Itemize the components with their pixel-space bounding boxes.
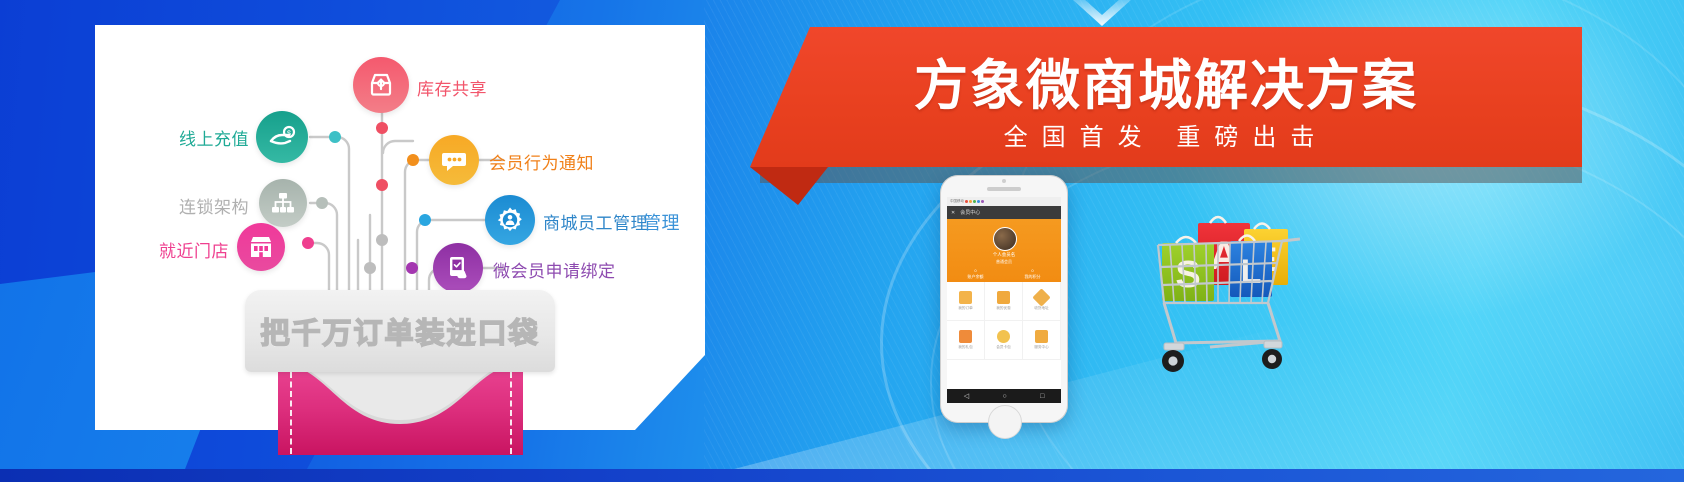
order-icon bbox=[959, 291, 972, 304]
svg-text:L: L bbox=[1241, 253, 1262, 291]
status-dot-icon bbox=[981, 200, 984, 203]
phone-menu-item[interactable]: 我的礼包 bbox=[947, 321, 985, 360]
feature-label-mendian: 就近门店 bbox=[71, 237, 229, 262]
battery-icon bbox=[973, 200, 976, 203]
phone-profile-header: 个人会员名 普通会员 0 账户余额 0 我的积分 bbox=[947, 219, 1061, 282]
ribbon-shadow bbox=[760, 167, 1582, 183]
org-chart-icon bbox=[269, 189, 297, 217]
bottom-strip bbox=[0, 469, 1684, 482]
pocket-stitch bbox=[290, 372, 292, 454]
headline-ribbon: 方象微商城解决方案 全国首发 重磅出击 bbox=[750, 27, 1582, 167]
feature-icon-liansuo[interactable] bbox=[259, 179, 307, 227]
connector-dot bbox=[376, 179, 388, 191]
connector-dot bbox=[316, 197, 328, 209]
phone-menu-item[interactable]: 服务中心 bbox=[1023, 321, 1061, 360]
svg-text:S: S bbox=[1175, 254, 1200, 296]
feature-icon-bangding[interactable] bbox=[433, 243, 483, 293]
feature-icon-chongzhi[interactable]: $ bbox=[256, 111, 308, 163]
card-icon bbox=[997, 330, 1010, 343]
phone-camera-icon bbox=[1002, 179, 1006, 183]
close-icon[interactable]: ✕ bbox=[951, 210, 955, 216]
feature-icon-mendian[interactable] bbox=[237, 223, 285, 271]
headline-title: 方象微商城解决方案 bbox=[750, 41, 1582, 120]
phone-mockup: 中国移动 ✕ 会员中心 个人会员名 普通会员 0 账户余额 bbox=[940, 175, 1068, 423]
feature-icon-tongzhi[interactable] bbox=[429, 135, 479, 185]
phone-menu-item[interactable]: 我的优惠 bbox=[985, 282, 1023, 321]
pocket-caption: 把千万订单装进口袋 bbox=[245, 310, 555, 352]
phone-stat: 0 账户余额 bbox=[947, 268, 1004, 280]
recents-icon[interactable]: □ bbox=[1040, 393, 1044, 400]
feature-label-chongzhi: 线上充值 bbox=[91, 125, 249, 150]
feature-label-bangding: 微会员申请绑定 bbox=[493, 257, 616, 282]
service-icon bbox=[1035, 330, 1048, 343]
phone-stat: 0 我的积分 bbox=[1004, 268, 1061, 280]
avatar bbox=[993, 227, 1017, 251]
back-icon[interactable]: ◁ bbox=[964, 392, 969, 400]
gear-user-icon bbox=[495, 205, 525, 235]
inbox-upload-icon bbox=[366, 70, 396, 100]
pocket-stitch bbox=[510, 372, 512, 454]
connector-dot bbox=[407, 154, 419, 166]
hand-coin-icon: $ bbox=[267, 122, 297, 152]
feature-label-guanli-extra: 管理 bbox=[643, 209, 680, 235]
connector-dot bbox=[376, 234, 388, 246]
feature-icon-yuangong[interactable] bbox=[485, 195, 535, 245]
phone-nav-bar: ◁ ○ □ bbox=[947, 389, 1061, 403]
wifi-icon bbox=[969, 200, 972, 203]
phone-app-title: 会员中心 bbox=[960, 209, 980, 216]
pocket-curve bbox=[278, 362, 523, 442]
phone-status-bar: 中国移动 bbox=[947, 197, 1061, 206]
phone-profile-level: 普通会员 bbox=[947, 259, 1061, 265]
promo-banner: 库存共享 $ 线上充值 会员行为通知 bbox=[0, 0, 1684, 482]
phone-app-bar: ✕ 会员中心 bbox=[947, 206, 1061, 219]
cart-wheel bbox=[1262, 341, 1282, 369]
feature-label-yuangong: 商城员工管理 bbox=[543, 209, 648, 234]
connector-dot bbox=[329, 131, 341, 143]
signal-icon bbox=[965, 200, 968, 203]
phone-profile-stats: 0 账户余额 0 我的积分 bbox=[947, 268, 1061, 280]
feature-label-kucun: 库存共享 bbox=[417, 75, 487, 100]
coupon-icon bbox=[997, 291, 1010, 304]
tablet-check-icon bbox=[444, 254, 472, 282]
connector-dot bbox=[302, 237, 314, 249]
gift-icon bbox=[959, 330, 972, 343]
phone-profile-name: 个人会员名 bbox=[947, 252, 1061, 258]
connector-dot bbox=[406, 262, 418, 274]
home-button[interactable] bbox=[988, 405, 1022, 439]
phone-menu-item[interactable]: 收货地址 bbox=[1023, 282, 1061, 321]
phone-menu-item[interactable]: 会员卡包 bbox=[985, 321, 1023, 360]
phone-menu-item[interactable]: 我的订单 bbox=[947, 282, 985, 321]
feature-icon-kucun[interactable] bbox=[353, 57, 409, 113]
home-icon[interactable]: ○ bbox=[1002, 393, 1006, 400]
connector-dot bbox=[376, 122, 388, 134]
headline-subtitle: 全国首发 重磅出击 bbox=[750, 117, 1582, 152]
chat-bubble-icon bbox=[440, 146, 468, 174]
feature-diagram: 库存共享 $ 线上充值 会员行为通知 bbox=[95, 25, 705, 430]
pocket-graphic: 把千万订单装进口袋 bbox=[245, 290, 555, 455]
connector-dot bbox=[364, 262, 376, 274]
shopping-cart-graphic: A E L S bbox=[1140, 215, 1320, 375]
cart-wheel bbox=[1162, 343, 1184, 372]
feature-label-liansuo: 连锁架构 bbox=[91, 193, 249, 218]
address-icon bbox=[1032, 288, 1050, 306]
svg-text:$: $ bbox=[287, 130, 291, 137]
phone-screen: 中国移动 ✕ 会员中心 个人会员名 普通会员 0 账户余额 bbox=[947, 197, 1061, 389]
phone-menu-grid: 我的订单 我的优惠 收货地址 我的礼包 会员卡包 bbox=[947, 282, 1061, 360]
feature-label-tongzhi: 会员行为通知 bbox=[489, 149, 594, 174]
status-dot-icon bbox=[977, 200, 980, 203]
connector-dot bbox=[419, 214, 431, 226]
storefront-icon bbox=[247, 233, 275, 261]
phone-speaker bbox=[987, 187, 1021, 191]
